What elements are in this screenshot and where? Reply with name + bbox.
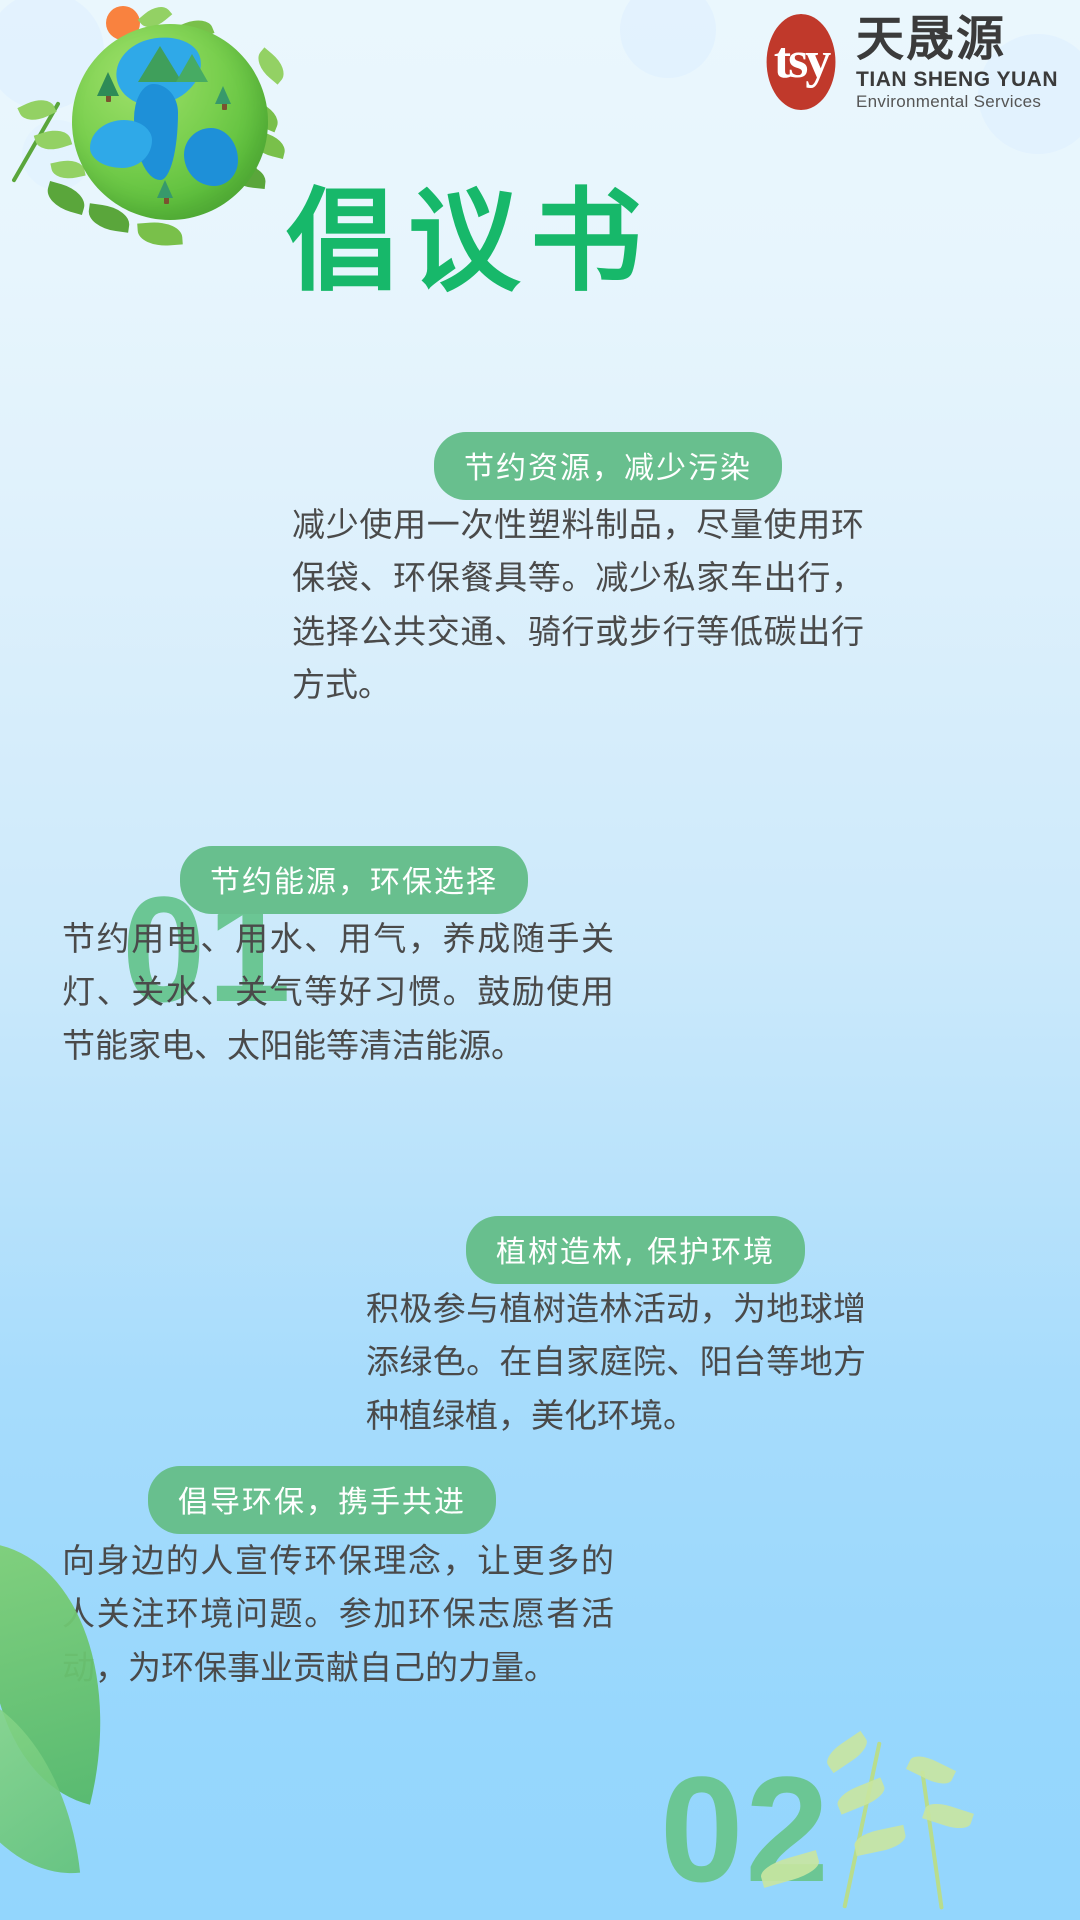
section-body-text: 节约用电、用水、用气，养成随手关灯、关水、关气等好习惯。鼓励使用节能家电、太阳能… bbox=[62, 912, 614, 1072]
brand-logo: tsy 天晟源 TIAN SHENG YUAN Environmental Se… bbox=[760, 14, 1058, 110]
section-badge: 节约能源，环保选择 bbox=[180, 846, 528, 914]
background-blob bbox=[620, 0, 716, 78]
leaf-icon bbox=[137, 220, 183, 247]
section-body-text: 减少使用一次性塑料制品，尽量使用环保袋、环保餐具等。减少私家车出行，选择公共交通… bbox=[292, 498, 864, 712]
tree-icon bbox=[215, 86, 231, 104]
mountain-icon bbox=[176, 54, 208, 82]
grass-leaf bbox=[906, 1751, 956, 1789]
brand-name-en: TIAN SHENG YUAN bbox=[856, 69, 1058, 90]
section-badge: 节约资源，减少污染 bbox=[434, 432, 782, 500]
logo-text-block: 天晟源 TIAN SHENG YUAN Environmental Servic… bbox=[856, 15, 1058, 110]
logo-mark-icon: tsy bbox=[760, 14, 842, 110]
earth-illustration bbox=[10, 0, 320, 270]
brand-tagline-en: Environmental Services bbox=[856, 93, 1058, 110]
grass-stem bbox=[920, 1770, 943, 1909]
brand-name-cn: 天晟源 bbox=[856, 15, 1058, 63]
section-badge: 植树造林, 保护环境 bbox=[466, 1216, 805, 1284]
tree-icon bbox=[97, 72, 119, 96]
poster-root: tsy 天晟源 TIAN SHENG YUAN Environmental Se… bbox=[0, 0, 1080, 1920]
globe-icon bbox=[72, 24, 268, 220]
logo-monogram: tsy bbox=[760, 14, 842, 110]
section-body-text: 积极参与植树造林活动，为地球增添绿色。在自家庭院、阳台等地方种植绿植，美化环境。 bbox=[366, 1282, 866, 1442]
grass-stem bbox=[842, 1741, 881, 1908]
section-badge: 倡导环保，携手共进 bbox=[148, 1466, 496, 1534]
tree-icon bbox=[157, 180, 173, 198]
section-body-text: 向身边的人宣传环保理念，让更多的人关注环境问题。参加环保志愿者活动，为环保事业贡… bbox=[62, 1534, 614, 1694]
ocean-shape bbox=[184, 128, 238, 186]
leaf-icon bbox=[43, 181, 88, 215]
leaf-icon bbox=[17, 94, 56, 126]
section-number: 02 bbox=[660, 1754, 831, 1904]
page-title: 倡议书 bbox=[286, 178, 652, 307]
grass-leaf bbox=[834, 1777, 888, 1814]
